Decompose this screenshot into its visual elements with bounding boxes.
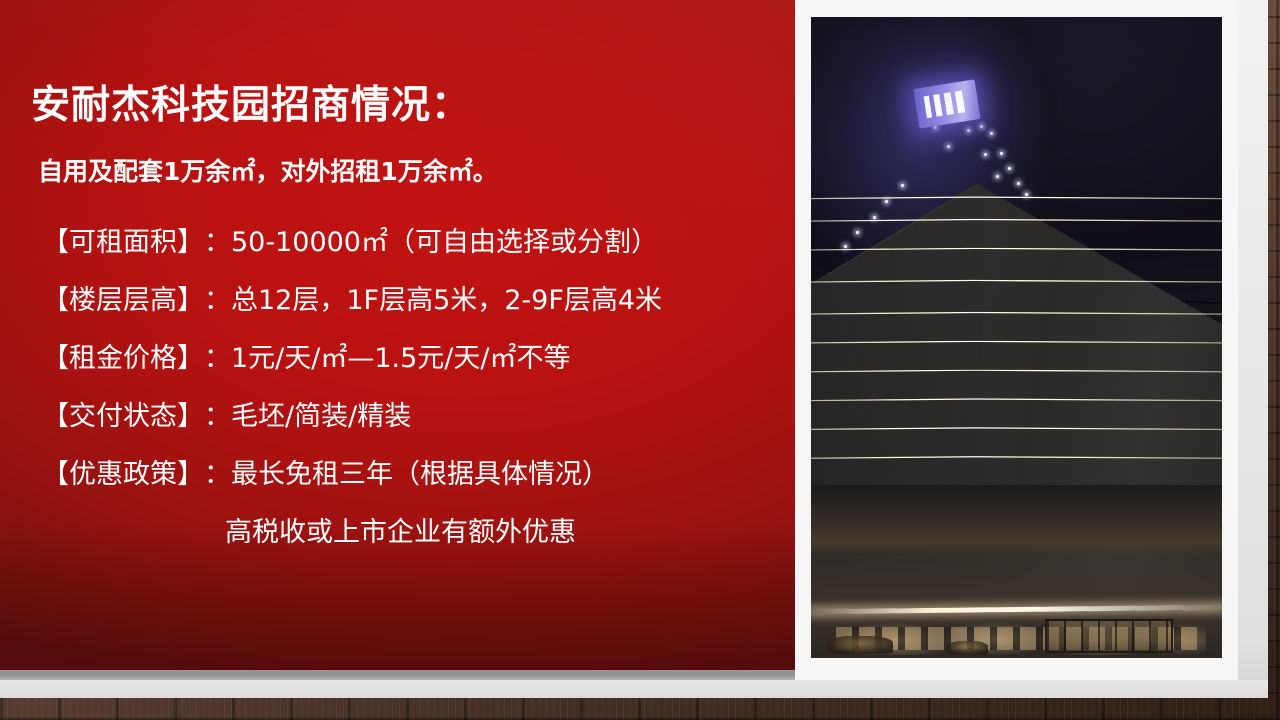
bullet-list: 【可租面积】 ： 50-10000㎡（可自由选择或分割） 【楼层层高】 ： 总1… xyxy=(42,213,792,561)
photo-frame xyxy=(795,0,1238,680)
planter xyxy=(827,636,893,653)
led-strip xyxy=(811,341,1222,344)
bullet-separator: ： xyxy=(204,461,231,488)
led-strip xyxy=(811,398,1222,401)
entrance-canopy-light xyxy=(811,605,1222,614)
bullet-label: 【楼层层高】 xyxy=(42,287,204,314)
card-bottom-edge xyxy=(0,680,1268,698)
led-strip xyxy=(811,456,1222,459)
bullet-value: 毛坯/简装/精装 xyxy=(231,403,411,430)
slide: 安耐杰科技园招商情况： 自用及配套1万余㎡，对外招租1万余㎡。 【可租面积】 ：… xyxy=(0,0,1280,720)
page-subtitle: 自用及配套1万余㎡，对外招租1万余㎡。 xyxy=(38,158,498,186)
text-content-block: 安耐杰科技园招商情况： 自用及配套1万余㎡，对外招租1万余㎡。 【可租面积】 ：… xyxy=(0,0,795,670)
list-item: 高税收或上市企业有额外优惠 xyxy=(42,503,792,561)
building-ground-floor xyxy=(811,485,1222,658)
list-item: 【优惠政策】 ： 最长免租三年（根据具体情况） xyxy=(42,445,792,503)
bullet-label: 【交付状态】 xyxy=(42,403,204,430)
led-strip xyxy=(811,427,1222,430)
led-strip xyxy=(811,196,1222,199)
led-strip xyxy=(811,219,1222,222)
bullet-value: 最长免租三年（根据具体情况） xyxy=(231,461,609,488)
led-strip xyxy=(811,280,1222,283)
list-item: 【交付状态】 ： 毛坯/简装/精装 xyxy=(42,387,792,445)
bullet-label: 【优惠政策】 xyxy=(42,461,204,488)
bullet-value: 1元/天/㎡—1.5元/天/㎡不等 xyxy=(231,345,571,372)
list-item: 【楼层层高】 ： 总12层，1F层高5米，2-9F层高4米 xyxy=(42,271,792,329)
building-night-photo xyxy=(811,17,1222,658)
bullet-separator: ： xyxy=(204,229,231,256)
bullet-value: 高税收或上市企业有额外优惠 xyxy=(225,519,576,546)
bullet-separator: ： xyxy=(204,403,231,430)
entrance-glass-door xyxy=(1045,619,1172,652)
led-strip xyxy=(811,312,1222,315)
bullet-value: 50-10000㎡（可自由选择或分割） xyxy=(231,229,658,256)
bullet-separator: ： xyxy=(204,345,231,372)
bullet-value: 总12层，1F层高5米，2-9F层高4米 xyxy=(231,287,662,314)
bullet-label: 【租金价格】 xyxy=(42,345,204,372)
list-item: 【租金价格】 ： 1元/天/㎡—1.5元/天/㎡不等 xyxy=(42,329,792,387)
led-strip xyxy=(811,248,1222,251)
list-item: 【可租面积】 ： 50-10000㎡（可自由选择或分割） xyxy=(42,213,792,271)
planter xyxy=(947,641,988,655)
led-strip xyxy=(811,370,1222,373)
bullet-label: 【可租面积】 xyxy=(42,229,204,256)
bullet-separator: ： xyxy=(204,287,231,314)
page-title: 安耐杰科技园招商情况： xyxy=(31,86,471,127)
